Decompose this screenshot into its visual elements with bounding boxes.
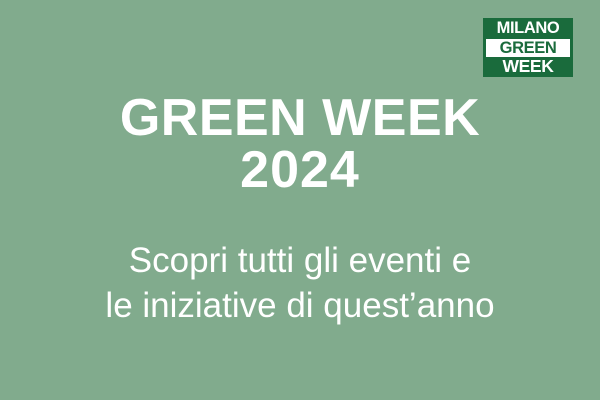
page-subtitle: Scopri tutti gli eventi e le iniziative … [0,238,600,328]
headline-line-primary: GREEN WEEK [0,92,600,144]
headline-line-year: 2024 [0,144,600,196]
subtitle-line-2: le iniziative di quest’anno [0,283,600,328]
milano-green-week-logo[interactable]: MILANO GREEN WEEK [483,18,573,77]
page-title: GREEN WEEK 2024 [0,92,600,196]
logo-line-green: GREEN [486,39,570,57]
logo-line-week: WEEK [486,58,570,75]
green-week-banner: MILANO GREEN WEEK GREEN WEEK 2024 Scopri… [0,0,600,400]
logo-line-milano: MILANO [486,20,570,37]
subtitle-line-1: Scopri tutti gli eventi e [0,238,600,283]
